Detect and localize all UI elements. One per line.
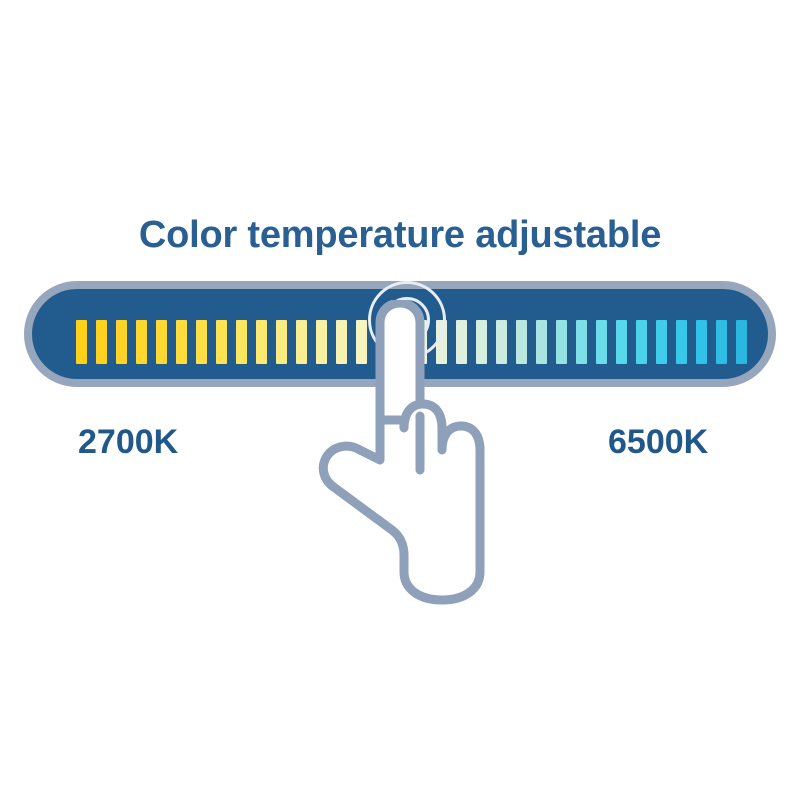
slider-tick [596,320,607,364]
slider-tick [536,320,547,364]
slider-tick [496,320,507,364]
color-temperature-slider[interactable] [24,281,776,387]
slider-tick [296,320,307,364]
slider-tick [656,320,667,364]
slider-max-label: 6500K [608,420,708,464]
slider-min-label: 2700K [78,420,178,464]
slider-tick [316,320,327,364]
slider-tick [616,320,627,364]
slider-tick [116,320,127,364]
illustration-canvas: Color temperature adjustable 2700K 6500K [0,0,800,800]
slider-tick [556,320,567,364]
slider-tick [736,320,747,364]
slider-tick [336,320,347,364]
slider-tick [156,320,167,364]
slider-tick [396,320,407,364]
slider-tick [696,320,707,364]
slider-tick [96,320,107,364]
palm-and-fingers [323,404,480,600]
slider-tick [476,320,487,364]
slider-tick-gradient [32,289,768,379]
slider-tick [376,320,387,364]
slider-track[interactable] [24,281,776,387]
slider-tick [636,320,647,364]
slider-tick [516,320,527,364]
slider-tick [416,320,427,364]
slider-tick [136,320,147,364]
slider-tick [256,320,267,364]
slider-tick [716,320,727,364]
slider-tick [196,320,207,364]
slider-tick [356,320,367,364]
slider-tick [216,320,227,364]
slider-tick [576,320,587,364]
slider-tick [76,320,87,364]
slider-tick [276,320,287,364]
slider-tick [676,320,687,364]
slider-tick [436,320,447,364]
slider-tick [176,320,187,364]
slider-tick [456,320,467,364]
page-title: Color temperature adjustable [0,211,800,259]
slider-tick [236,320,247,364]
